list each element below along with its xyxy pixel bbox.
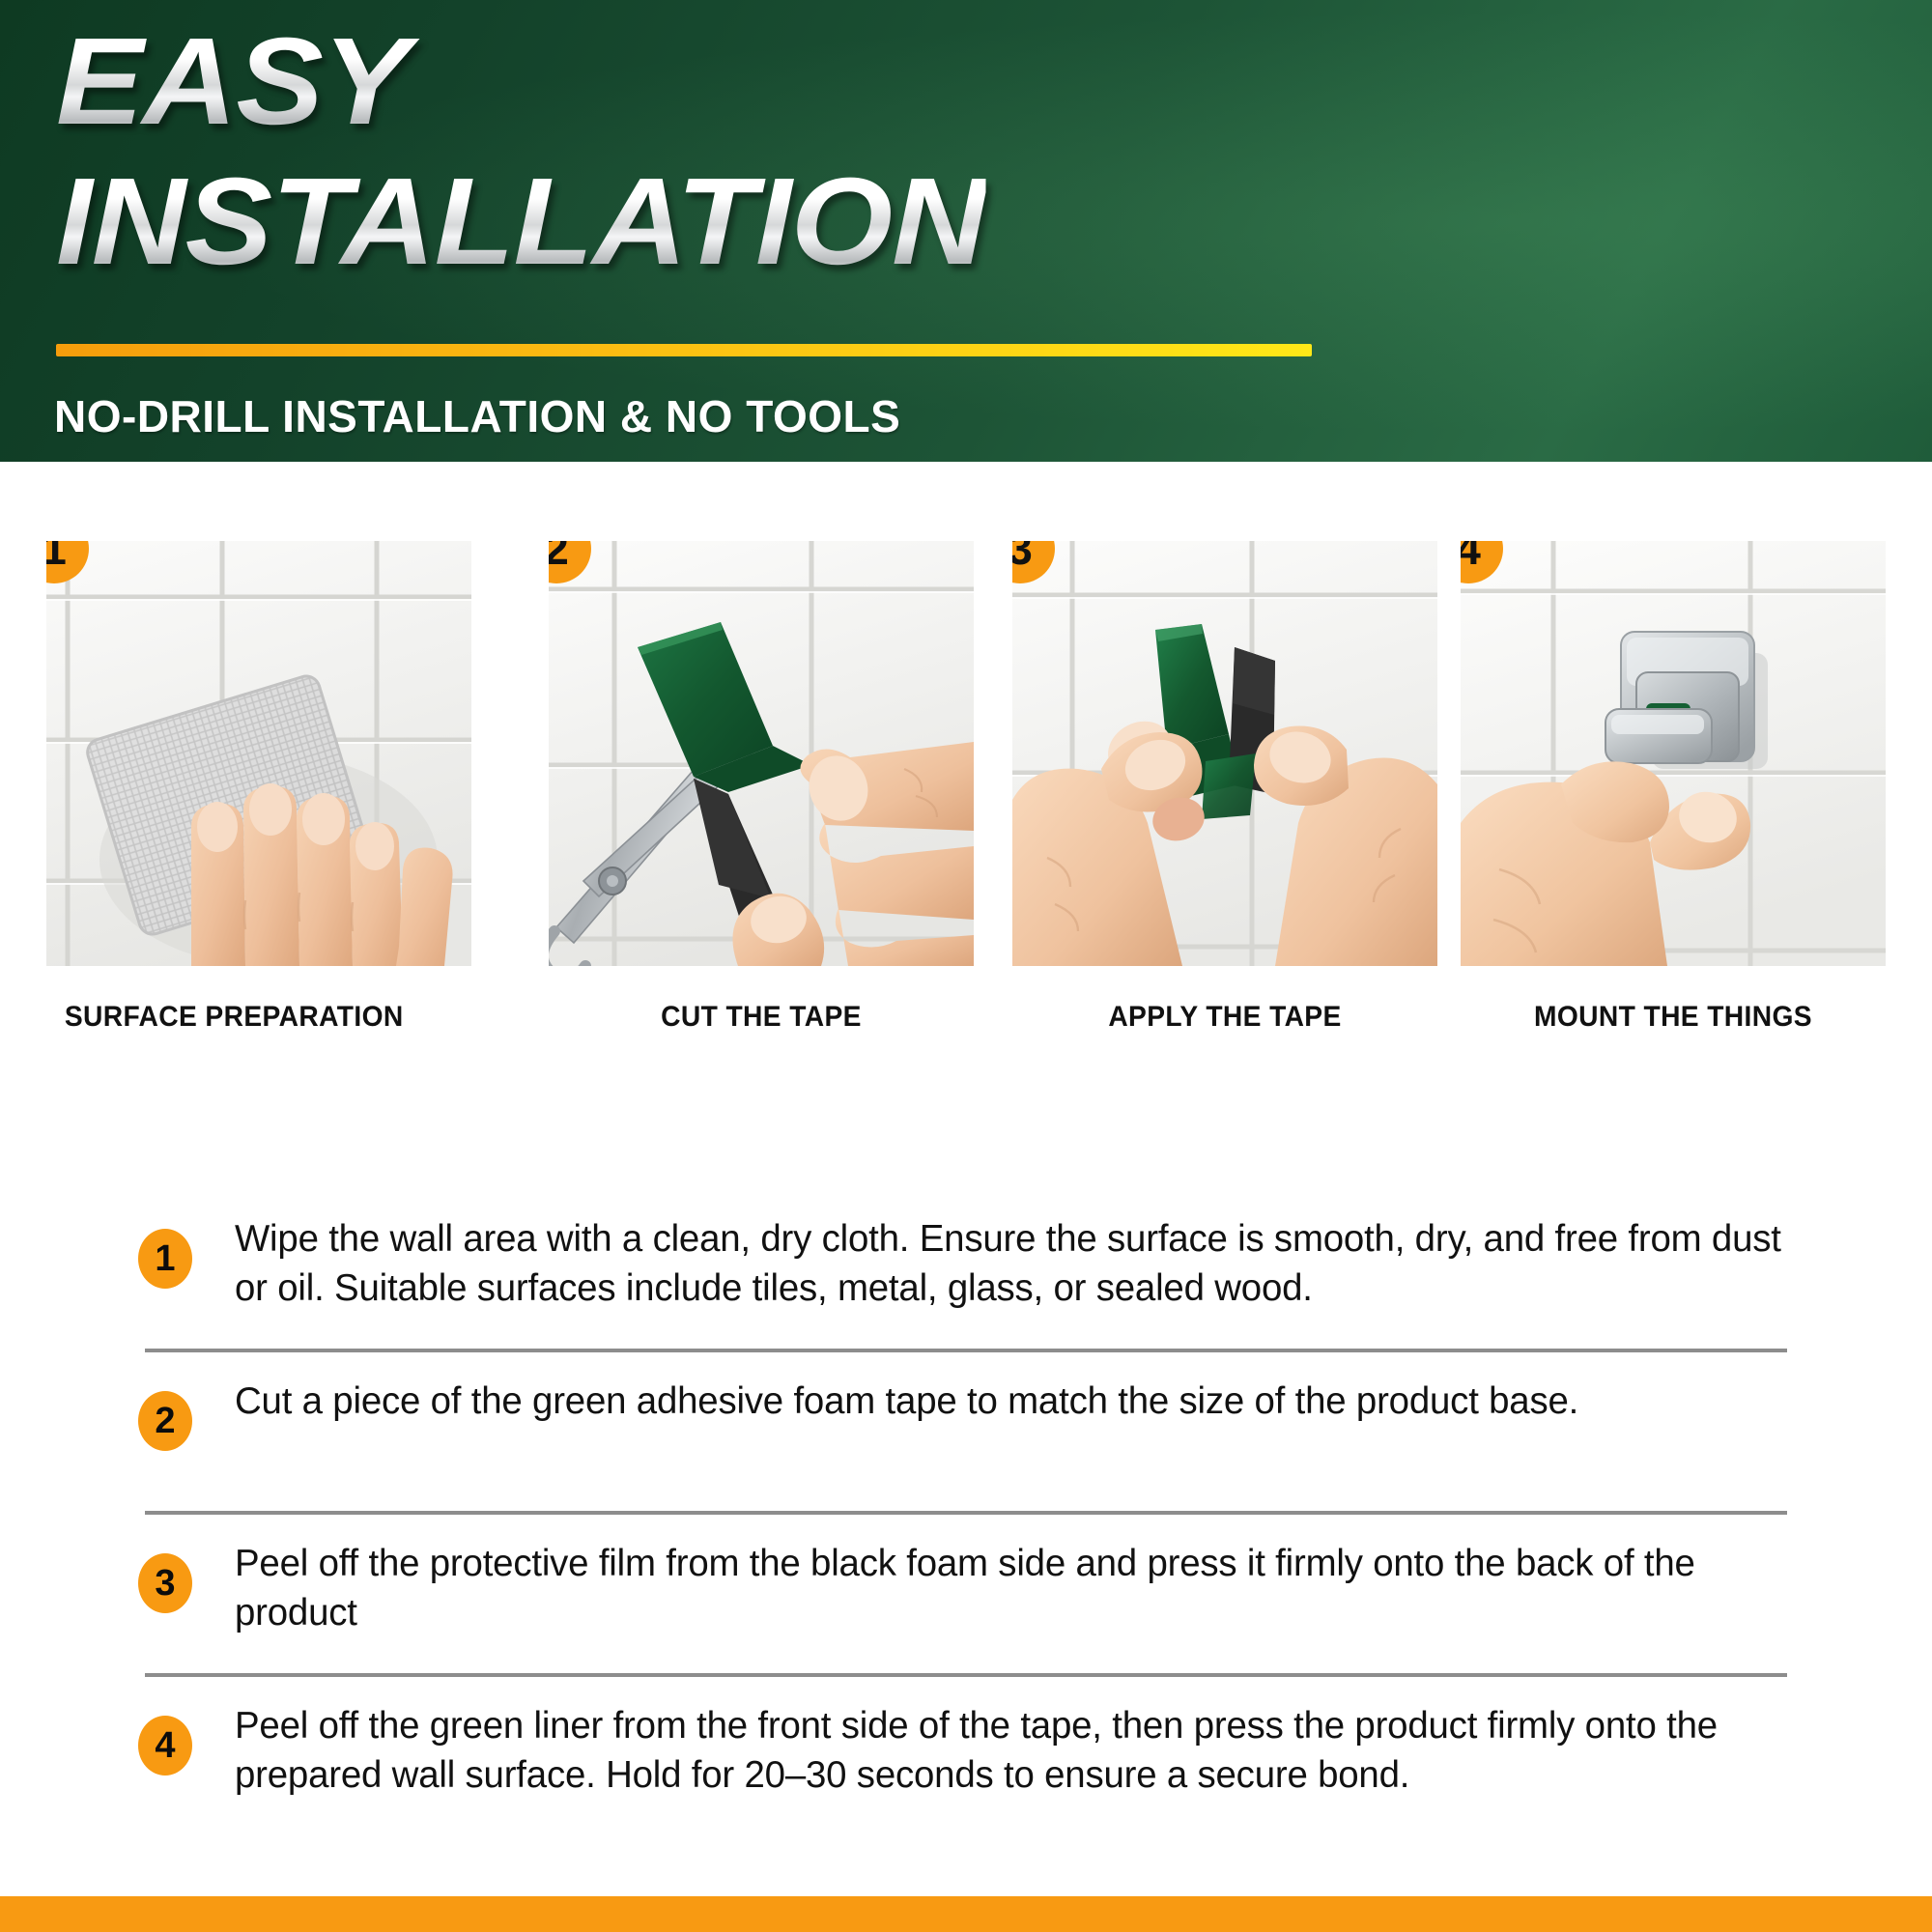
step-image-4: 4 <box>1461 541 1886 966</box>
step-image-2: 2 <box>549 541 974 966</box>
instruction-badge-2: 2 <box>138 1391 192 1451</box>
instruction-divider-1 <box>145 1349 1787 1352</box>
accent-rule-divider <box>56 344 1312 356</box>
title-block: EASY INSTALLATION <box>56 23 933 282</box>
step-card-3: 3 APPLY THE TAPE <box>1012 541 1437 1034</box>
instruction-text-4: Peel off the green liner from the front … <box>235 1702 1907 1800</box>
instruction-badge-4: 4 <box>138 1716 192 1776</box>
step-card-4: 4 MOUNT THE THINGS <box>1461 541 1886 1034</box>
instruction-row-3: 3 Peel off the protective film from the … <box>0 1540 1932 1702</box>
instruction-list: 1 Wipe the wall area with a clean, dry c… <box>0 1215 1932 1864</box>
page-title-line2: INSTALLATION <box>56 163 985 282</box>
step-card-1: 1 SURFACE PREPARATION <box>46 541 471 1034</box>
instruction-row-1: 1 Wipe the wall area with a clean, dry c… <box>0 1215 1932 1378</box>
step-caption-2: CUT THE TAPE <box>561 1001 961 1034</box>
step-caption-1: SURFACE PREPARATION <box>59 1001 459 1034</box>
step-caption-3: APPLY THE TAPE <box>1025 1001 1425 1034</box>
step-image-1: 1 <box>46 541 471 966</box>
instruction-badge-3: 3 <box>138 1553 192 1613</box>
instruction-divider-3 <box>145 1673 1787 1677</box>
step-image-3: 3 <box>1012 541 1437 966</box>
instruction-badge-1: 1 <box>138 1229 192 1289</box>
step-card-2: 2 CUT THE TAPE <box>549 541 974 1034</box>
step-image-row: 1 SURFACE PREPARATION <box>0 541 1932 1082</box>
instruction-row-2: 2 Cut a piece of the green adhesive foam… <box>0 1378 1932 1540</box>
instruction-divider-2 <box>145 1511 1787 1515</box>
page-title-line1: EASY <box>56 23 985 142</box>
header-subtitle: NO-DRILL INSTALLATION & NO TOOLS <box>54 390 900 442</box>
footer-accent-bar <box>0 1896 1932 1932</box>
instruction-text-3: Peel off the protective film from the bl… <box>235 1540 1907 1637</box>
instruction-text-2: Cut a piece of the green adhesive foam t… <box>235 1378 1907 1427</box>
step-caption-4: MOUNT THE THINGS <box>1473 1001 1873 1034</box>
instruction-row-4: 4 Peel off the green liner from the fron… <box>0 1702 1932 1864</box>
header-banner: EASY INSTALLATION NO-DRILL INSTALLATION … <box>0 0 1932 462</box>
instruction-text-1: Wipe the wall area with a clean, dry clo… <box>235 1215 1907 1313</box>
